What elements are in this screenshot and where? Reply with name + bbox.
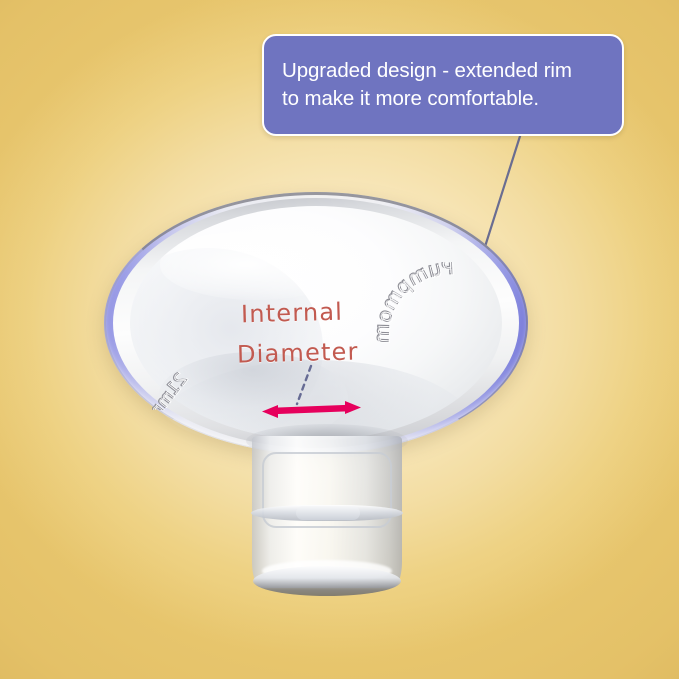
stem-collar-tab	[296, 506, 360, 520]
callout-line-2: to make it more comfortable.	[282, 87, 539, 110]
size-emboss-text: 21mm 21mm	[152, 352, 222, 410]
diameter-label: Diameter	[237, 337, 359, 368]
callout-box: Upgraded design - extended rim to make i…	[262, 34, 624, 136]
svg-text:21mm: 21mm	[152, 369, 193, 410]
svg-text:Pumpmom: Pumpmom	[370, 262, 455, 345]
callout-line-1: Upgraded design - extended rim	[282, 59, 572, 82]
product-infographic: Pumpmom Pumpmom 21mm 21mm Internal Diame…	[0, 0, 679, 679]
brand-emboss-pumpmom: Pumpmom Pumpmom	[352, 262, 462, 358]
callout-text: Upgraded design - extended rim to make i…	[282, 57, 572, 114]
stem-base	[253, 566, 401, 596]
bowl-highlight	[160, 229, 353, 299]
internal-label: Internal	[241, 298, 344, 329]
